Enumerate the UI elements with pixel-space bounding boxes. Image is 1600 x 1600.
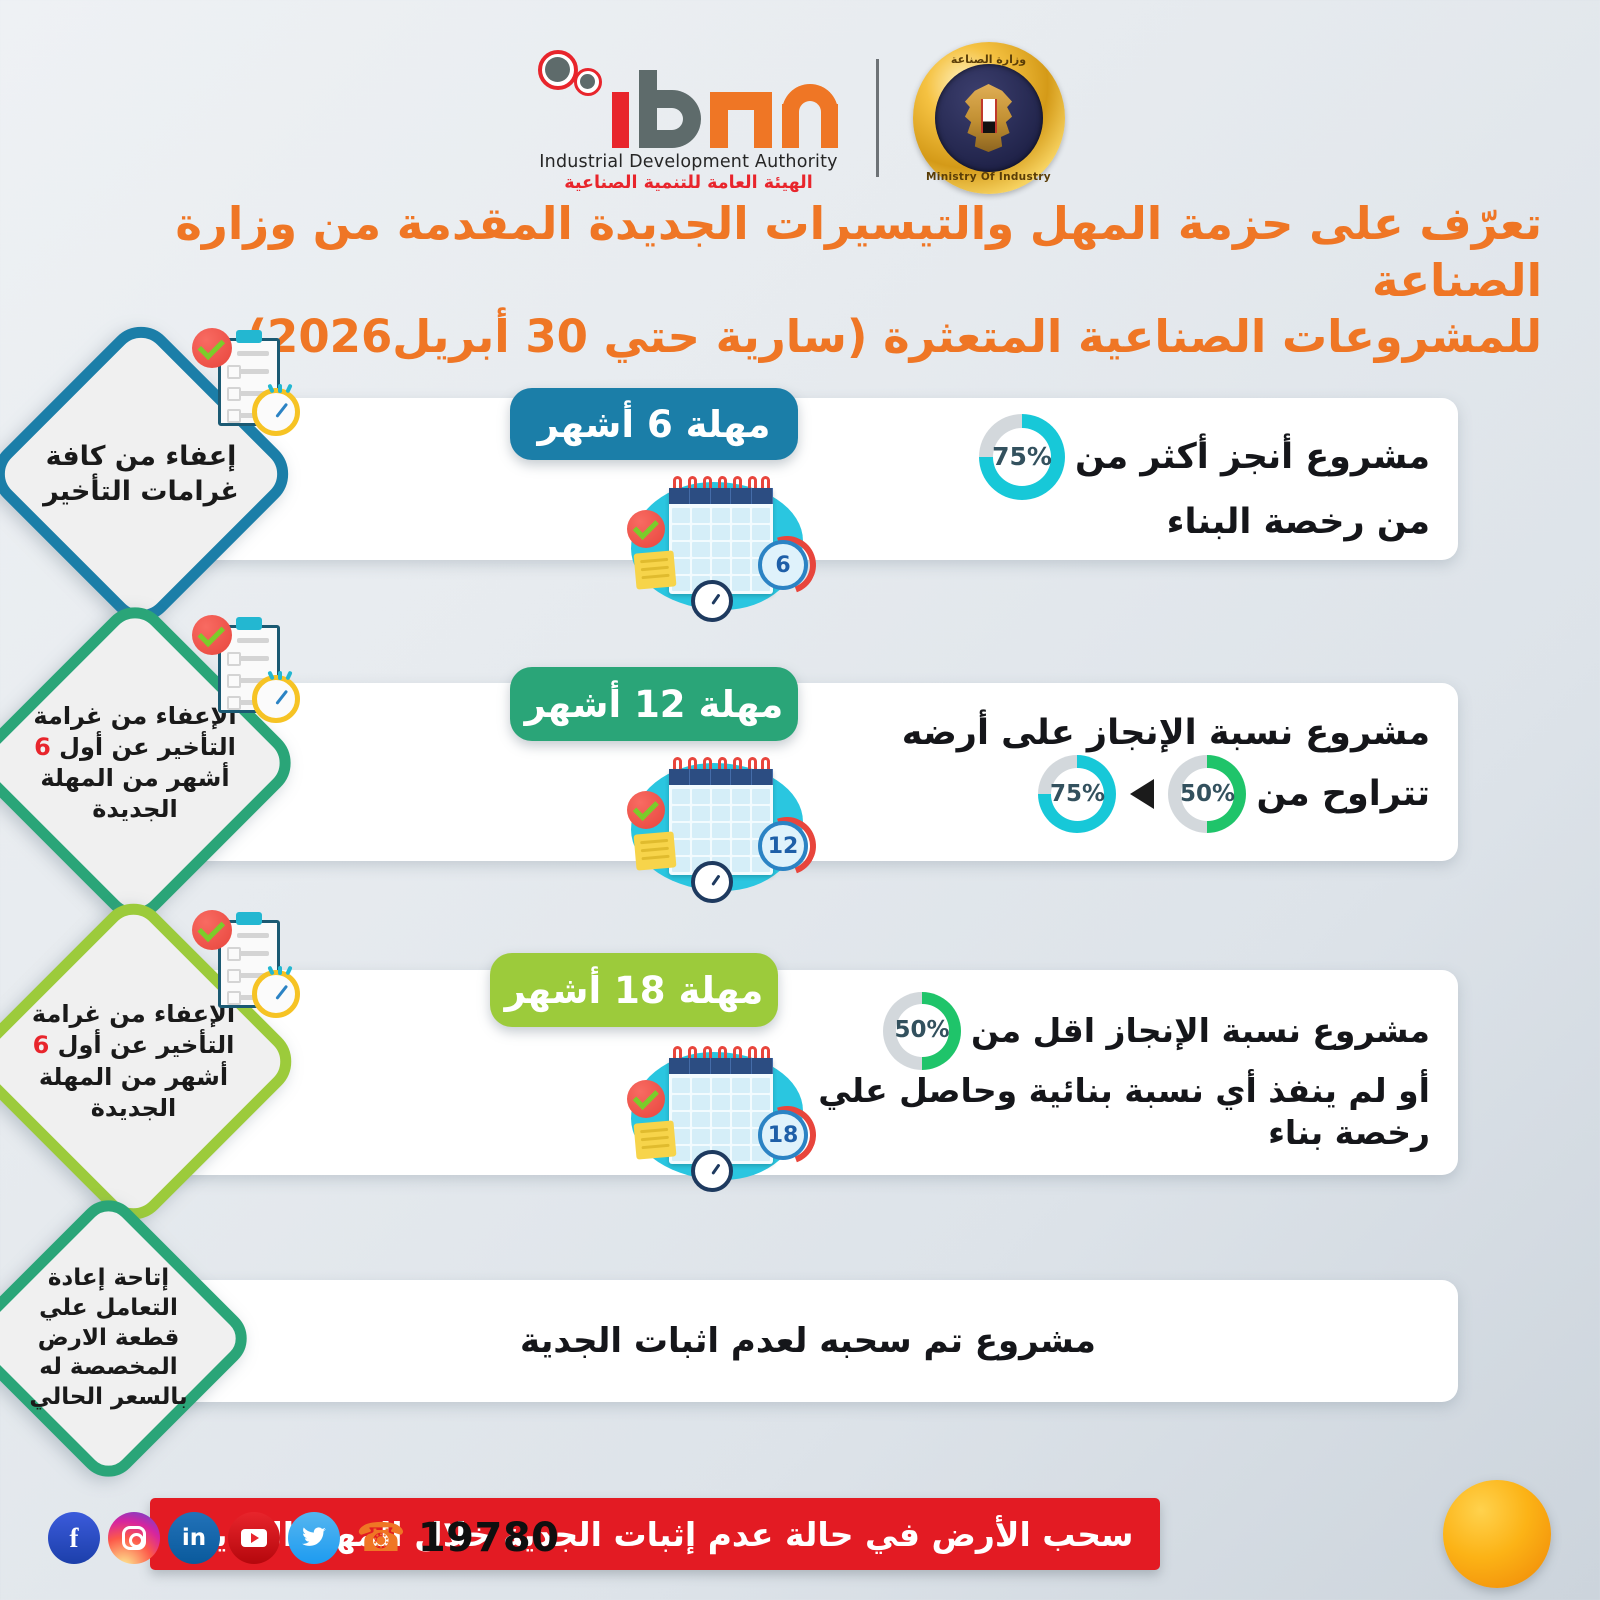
calendar-month-count: 18: [758, 1110, 808, 1160]
clipboard-stopwatch-icon-2: [192, 615, 300, 727]
donut-chart-75: 75%: [1038, 755, 1116, 833]
benefit-text-highlight: 6: [34, 733, 51, 761]
benefit-text-b: أشهر من المهلة الجديدة: [39, 1063, 228, 1122]
seal-text-ar: وزارة الصناعة: [913, 53, 1065, 66]
clipboard-stopwatch-icon-1: [192, 328, 300, 440]
criteria-text: مشروع أنجز أكثر من 75% من رخصة البناء: [707, 414, 1430, 544]
linkedin-icon[interactable]: in: [168, 1512, 220, 1564]
social-links: f in ☎ 19780: [48, 1512, 560, 1564]
ministry-of-industry-seal: وزارة الصناعة Ministry Of Industry: [913, 42, 1065, 194]
benefit-text-highlight: 6: [33, 1031, 50, 1059]
clock-icon: [691, 1150, 733, 1192]
criteria-text: مشروع تم سحبه لعدم اثبات الجدية: [520, 1320, 1096, 1363]
ida-caption-ar: الهيئة العامة للتنمية الصناعية: [564, 173, 813, 193]
eagle-icon: [958, 84, 1020, 152]
check-icon: [192, 910, 232, 950]
check-icon: [627, 510, 665, 548]
donut-value: 75%: [1051, 768, 1104, 821]
seal-inner: [935, 64, 1043, 172]
footer-orb-decoration: [1443, 1480, 1551, 1588]
clock-icon: [691, 861, 733, 903]
row-withdrawn: مشروع تم سحبه لعدم اثبات الجدية إتاحة إع…: [0, 1240, 1600, 1455]
calendar-illustration-18: 18: [625, 1040, 810, 1190]
facebook-icon[interactable]: f: [48, 1512, 100, 1564]
donut-chart-75: 75%: [979, 414, 1065, 500]
page-title-line-1: تعرّف على حزمة المهل والتيسيرات الجديدة …: [72, 196, 1542, 309]
twitter-icon[interactable]: [288, 1512, 340, 1564]
calendar-month-count: 12: [758, 821, 808, 871]
criteria-line-1: مشروع تم سحبه لعدم اثبات الجدية: [520, 1320, 1096, 1363]
criteria-line-2: تتراوح من: [1256, 772, 1430, 816]
gear-icon: [536, 48, 606, 110]
seal-text-en: Ministry Of Industry: [913, 171, 1065, 183]
youtube-icon[interactable]: [228, 1512, 280, 1564]
badge-6-months: مهلة 6 أشهر: [510, 388, 798, 460]
stopwatch-icon: [252, 970, 300, 1018]
benefit-text-b: أشهر من المهلة الجديدة: [40, 764, 229, 823]
ida-caption-en: Industrial Development Authority: [539, 152, 837, 172]
criteria-line-2: من رخصة البناء: [1167, 500, 1430, 544]
donut-chart-50: 50%: [883, 992, 961, 1070]
donut-value: 50%: [1181, 768, 1234, 821]
calendar-illustration-12: 12: [625, 751, 810, 901]
check-icon: [192, 615, 232, 655]
criteria-text: مشروع نسبة الإنجاز اقل من 50% أو لم ينفذ…: [248, 992, 1430, 1153]
clipboard-stopwatch-icon-3: [192, 910, 300, 1022]
header-divider: [876, 59, 879, 177]
hotline-number: 19780: [418, 1515, 560, 1561]
stopwatch-icon: [252, 388, 300, 436]
criteria-line-1: مشروع نسبة الإنجاز اقل من: [971, 1010, 1430, 1052]
sticky-note-icon: [634, 550, 677, 589]
arrow-left-icon: [1130, 779, 1154, 809]
criteria-line-2: أو لم ينفذ أي نسبة بنائية وحاصل علي: [818, 1070, 1430, 1112]
check-icon: [627, 1080, 665, 1118]
header-logos: Industrial Development Authority الهيئة …: [0, 38, 1600, 198]
phone-icon: ☎: [356, 1518, 406, 1558]
badge-12-months: مهلة 12 أشهر: [510, 667, 798, 741]
instagram-icon[interactable]: [108, 1512, 160, 1564]
calendar-illustration-6: 6: [625, 470, 810, 620]
sticky-note-icon: [634, 831, 677, 870]
stopwatch-icon: [252, 675, 300, 723]
criteria-line-1: مشروع أنجز أكثر من: [1075, 435, 1430, 479]
criteria-line-3: رخصة بناء: [1268, 1112, 1430, 1154]
ida-wordmark: [606, 70, 842, 148]
donut-value: 50%: [896, 1004, 949, 1057]
benefit-diamond-4: إتاحة إعادة التعامل علي قطعة الارض المخص…: [2, 1232, 215, 1445]
calendar-month-count: 6: [758, 540, 808, 590]
criteria-card: مشروع تم سحبه لعدم اثبات الجدية: [158, 1280, 1458, 1402]
donut-value: 75%: [993, 428, 1051, 486]
badge-18-months: مهلة 18 أشهر: [490, 953, 778, 1027]
row-18-months: مشروع نسبة الإنجاز اقل من 50% أو لم ينفذ…: [0, 915, 1600, 1205]
clock-icon: [691, 580, 733, 622]
ida-logomark: [536, 44, 842, 148]
row-6-months: مشروع أنجز أكثر من 75% من رخصة البناء مه…: [0, 340, 1600, 605]
benefit-text: إتاحة إعادة التعامل علي قطعة الارض المخص…: [2, 1232, 215, 1445]
ida-logo: Industrial Development Authority الهيئة …: [536, 44, 842, 193]
criteria-line-1: مشروع نسبة الإنجاز على أرضه: [902, 711, 1430, 755]
sticky-note-icon: [634, 1120, 677, 1159]
row-12-months: مشروع نسبة الإنجاز على أرضه تتراوح من 50…: [0, 625, 1600, 900]
check-icon: [192, 328, 232, 368]
check-icon: [627, 791, 665, 829]
donut-chart-50: 50%: [1168, 755, 1246, 833]
